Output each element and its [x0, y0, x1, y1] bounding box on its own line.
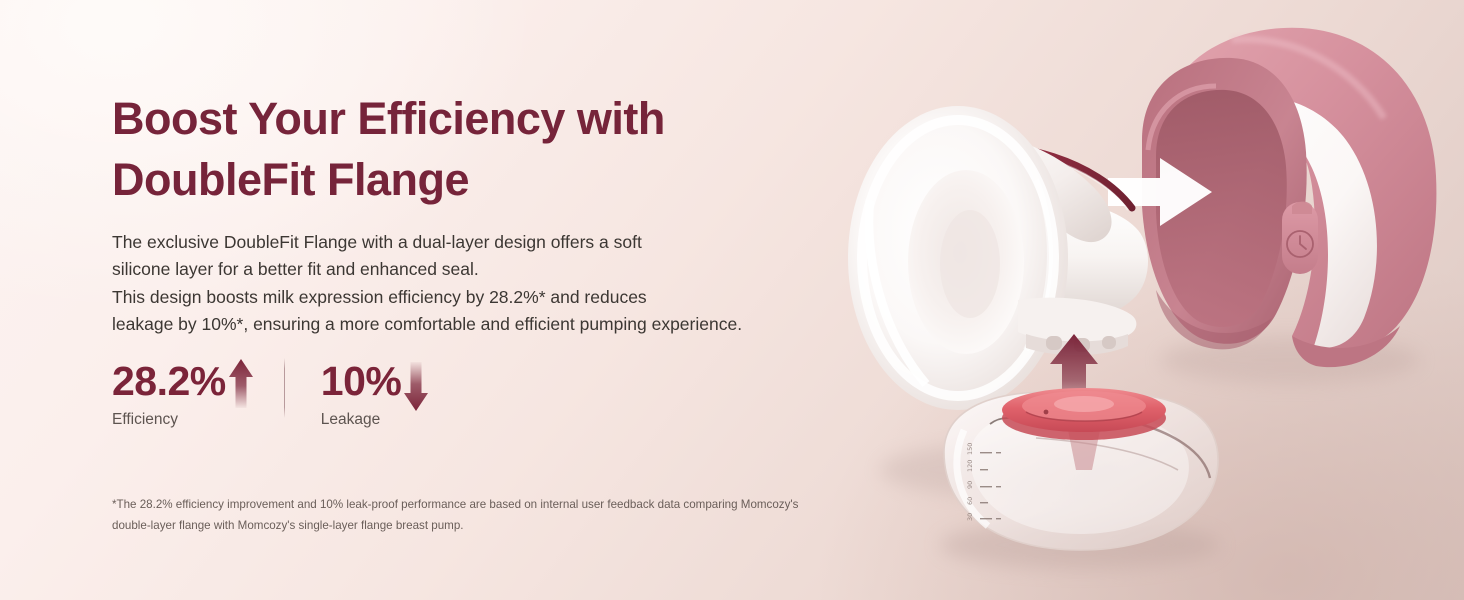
svg-text:120: 120	[966, 460, 974, 472]
arrow-up-icon	[228, 358, 254, 412]
body-line-4: leakage by 10%*, ensuring a more comfort…	[112, 311, 842, 338]
stat-leakage-row: 10%	[321, 358, 430, 406]
milk-collection-cup: 150 120 90 60 30	[944, 388, 1218, 550]
power-button[interactable]	[1282, 202, 1318, 275]
footnote-line-1: *The 28.2% efficiency improvement and 10…	[112, 494, 902, 515]
body-line-2: silicone layer for a better fit and enha…	[112, 256, 842, 283]
stats-divider	[284, 358, 285, 418]
body-line-1: The exclusive DoubleFit Flange with a du…	[112, 229, 842, 256]
svg-text:90: 90	[966, 481, 974, 489]
svg-text:30: 30	[966, 513, 974, 521]
svg-text:60: 60	[966, 497, 974, 505]
stat-leakage-label: Leakage	[321, 411, 430, 429]
footnote-line-2: double-layer flange with Momcozy's singl…	[112, 515, 902, 536]
copy-column: Boost Your Efficiency with DoubleFit Fla…	[110, 0, 910, 600]
arrow-down-icon	[403, 358, 429, 412]
flange-funnel-tunnel	[940, 210, 1000, 318]
stats-row: 28.2%	[112, 358, 429, 438]
svg-text:150: 150	[966, 443, 974, 455]
body-line-3: This design boosts milk expression effic…	[112, 284, 842, 311]
body-paragraph: The exclusive DoubleFit Flange with a du…	[112, 229, 842, 339]
stat-leakage: 10%	[321, 358, 430, 429]
doublefit-flange	[848, 106, 1148, 410]
stat-efficiency: 28.2%	[112, 358, 254, 429]
footnote: *The 28.2% efficiency improvement and 10…	[112, 494, 902, 536]
stat-efficiency-label: Efficiency	[112, 411, 254, 429]
stat-leakage-value: 10%	[321, 358, 402, 404]
silicone-valve-disc	[1002, 388, 1166, 440]
page-title: Boost Your Efficiency with DoubleFit Fla…	[112, 88, 802, 210]
stat-efficiency-row: 28.2%	[112, 358, 254, 406]
product-scene: 150 120 90 60 30	[840, 0, 1464, 600]
stat-efficiency-value: 28.2%	[112, 358, 226, 404]
promo-banner: Boost Your Efficiency with DoubleFit Fla…	[0, 0, 1464, 600]
